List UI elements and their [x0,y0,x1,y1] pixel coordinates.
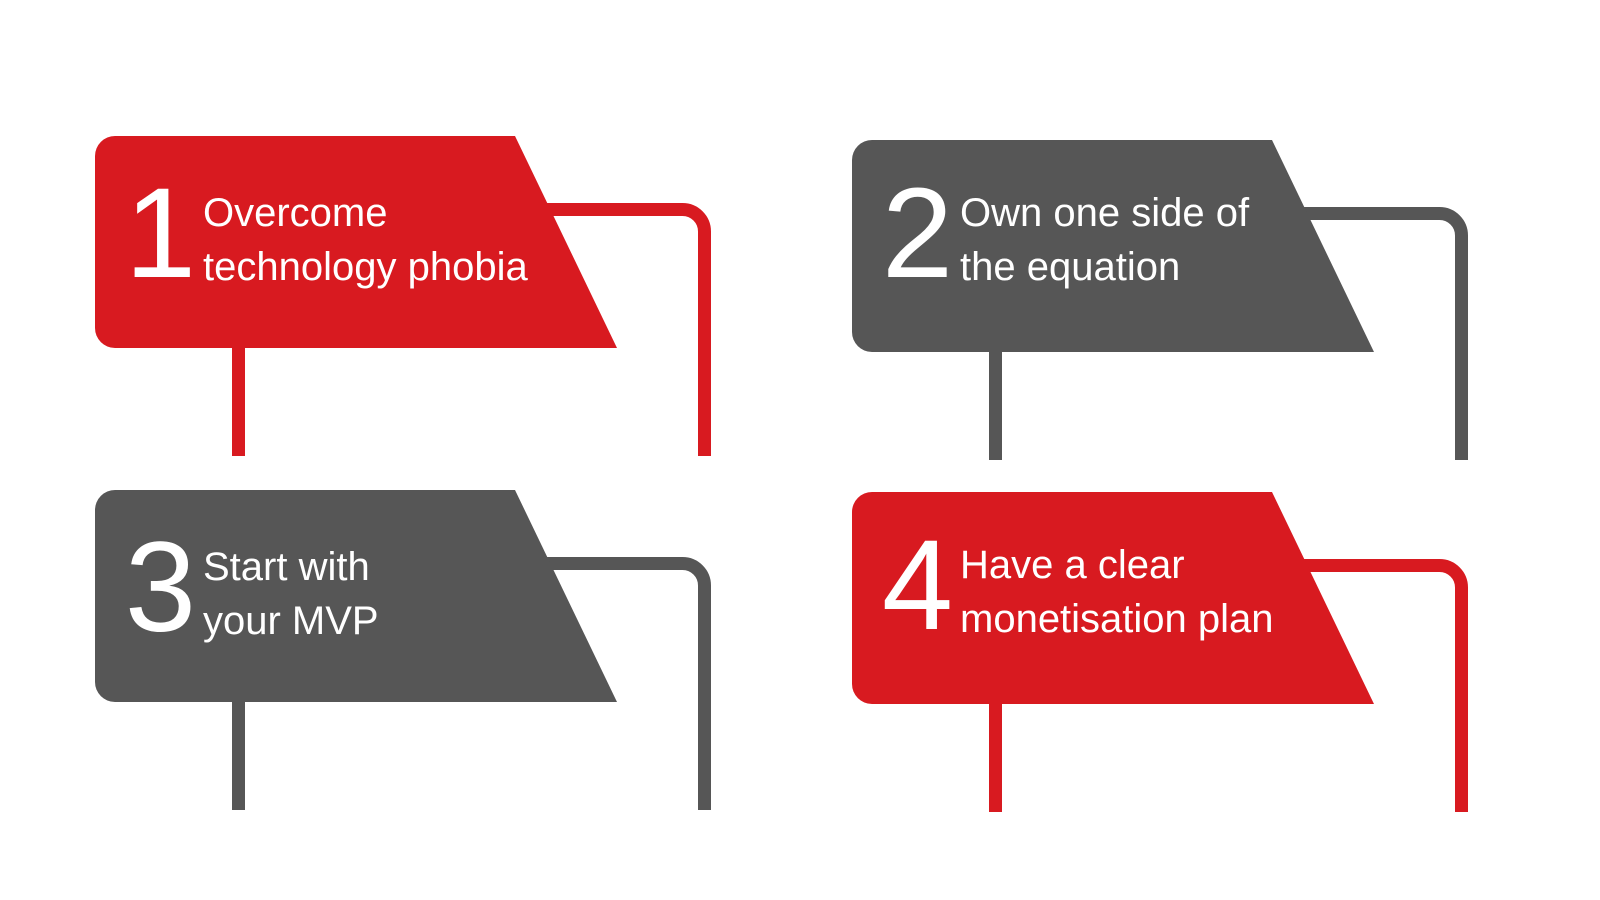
step-card-4[interactable]: 4 Have a clear monetisation plan [852,492,1492,812]
step-card-3[interactable]: 3 Start with your MVP [95,490,735,810]
step-card-3-fill [95,490,617,702]
step-card-1-fill [95,136,617,348]
step-card-2-fill [852,140,1374,352]
infographic-canvas: 1 Overcome technology phobia 2 Own one s… [0,0,1600,900]
step-card-2-shape [852,140,1492,460]
step-card-1-shape [95,136,735,456]
step-card-4-shape [852,492,1492,812]
step-card-2[interactable]: 2 Own one side of the equation [852,140,1492,460]
step-card-4-fill [852,492,1374,704]
step-card-1[interactable]: 1 Overcome technology phobia [95,136,735,456]
step-card-3-shape [95,490,735,810]
